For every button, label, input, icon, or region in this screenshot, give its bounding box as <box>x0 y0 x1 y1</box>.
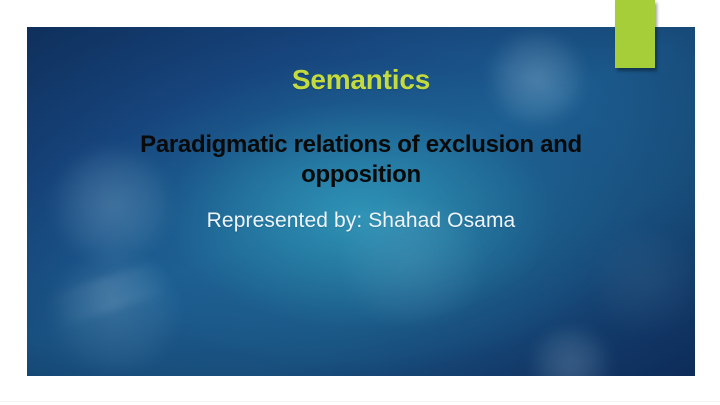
slide-heading: Paradigmatic relations of exclusion and … <box>83 130 639 190</box>
green-accent-bar <box>615 0 655 68</box>
slide-title: Semantics <box>27 65 695 96</box>
page-canvas: Semantics Paradigmatic relations of excl… <box>0 0 720 405</box>
slide-subtitle-presenter: Represented by: Shahad Osama <box>83 208 639 234</box>
page-bottom-edge <box>0 401 720 402</box>
slide-text-block: Semantics Paradigmatic relations of excl… <box>27 27 695 376</box>
